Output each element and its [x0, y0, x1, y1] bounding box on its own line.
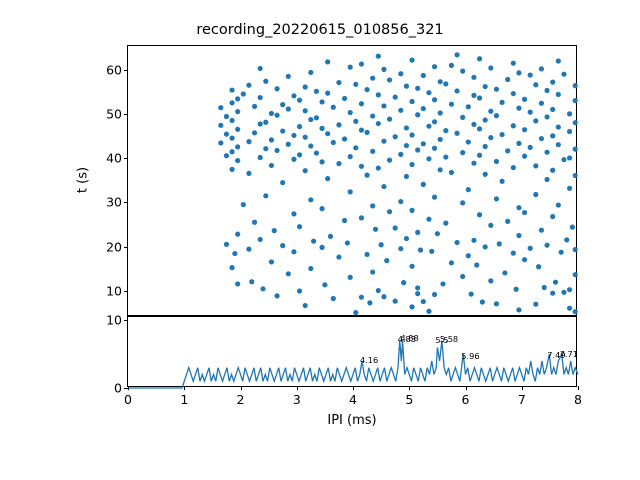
scatter-point: [297, 98, 302, 103]
scatter-point: [522, 257, 527, 262]
scatter-point: [409, 264, 414, 269]
scatter-point: [499, 179, 504, 184]
scatter-point: [286, 271, 291, 276]
scatter-point: [528, 145, 533, 150]
scatter-point: [319, 206, 324, 211]
scatter-point: [516, 70, 521, 75]
scatter-point: [308, 70, 313, 75]
scatter-y-tick: [124, 114, 128, 115]
scatter-point: [325, 176, 330, 181]
scatter-point: [303, 168, 308, 173]
scatter-point: [561, 157, 566, 162]
scatter-point: [505, 77, 510, 82]
scatter-point: [454, 88, 459, 93]
scatter-point: [533, 163, 538, 168]
scatter-point: [449, 260, 454, 265]
scatter-point: [460, 69, 465, 74]
scatter-point: [353, 145, 358, 150]
scatter-point: [567, 111, 572, 116]
scatter-point: [471, 161, 476, 166]
scatter-point: [359, 61, 364, 66]
scatter-point: [314, 89, 319, 94]
scatter-point: [364, 130, 369, 135]
scatter-point: [426, 309, 431, 314]
scatter-point: [432, 195, 437, 200]
scatter-point: [319, 245, 324, 250]
scatter-point: [567, 186, 572, 191]
scatter-point: [246, 139, 251, 144]
scatter-point: [550, 291, 555, 296]
scatter-point: [229, 149, 234, 154]
scatter-point: [488, 65, 493, 70]
scatter-point: [381, 294, 386, 299]
scatter-point: [550, 107, 555, 112]
scatter-point: [438, 79, 443, 84]
scatter-point: [421, 182, 426, 187]
scatter-point: [246, 83, 251, 88]
scatter-point: [336, 122, 341, 127]
histogram-axes: 010 012345678 4.164.834.885.55.585.967.4…: [127, 316, 577, 387]
scatter-point: [387, 209, 392, 214]
scatter-point: [286, 106, 291, 111]
scatter-point: [443, 81, 448, 86]
histogram-x-tick-label: 1: [180, 392, 188, 407]
scatter-point: [550, 214, 555, 219]
scatter-point: [528, 246, 533, 251]
scatter-point: [409, 58, 414, 63]
scatter-point: [308, 117, 313, 122]
scatter-point: [511, 123, 516, 128]
scatter-point: [466, 139, 471, 144]
scatter-point: [440, 281, 445, 286]
scatter-point: [229, 118, 234, 123]
scatter-point: [328, 234, 333, 239]
scatter-point: [415, 285, 420, 290]
scatter-point: [387, 158, 392, 163]
scatter-point: [483, 172, 488, 177]
scatter-point: [353, 82, 358, 87]
histogram-x-tick-label: 5: [405, 392, 413, 407]
scatter-point: [393, 299, 398, 304]
scatter-point: [567, 306, 572, 311]
scatter-point: [297, 288, 302, 293]
scatter-point: [556, 124, 561, 129]
scatter-point: [314, 150, 319, 155]
scatter-point: [477, 153, 482, 158]
scatter-point: [342, 218, 347, 223]
scatter-point: [393, 95, 398, 100]
scatter-y-tick: [124, 158, 128, 159]
scatter-point: [550, 80, 555, 85]
scatter-point: [229, 87, 234, 92]
scatter-point: [494, 159, 499, 164]
matplotlib-figure: recording_20220615_010856_321 1020304050…: [0, 0, 640, 480]
scatter-point: [297, 224, 302, 229]
scatter-point: [232, 251, 237, 256]
scatter-point: [514, 287, 519, 292]
scatter-point: [449, 63, 454, 68]
scatter-point: [477, 126, 482, 131]
scatter-point: [370, 269, 375, 274]
scatter-point: [516, 205, 521, 210]
scatter-point: [438, 167, 443, 172]
scatter-point: [443, 154, 448, 159]
scatter-point: [376, 165, 381, 170]
scatter-point: [224, 242, 229, 247]
scatter-point: [573, 247, 578, 252]
scatter-point: [421, 299, 426, 304]
scatter-point: [432, 146, 437, 151]
scatter-point: [539, 228, 544, 233]
scatter-point: [342, 96, 347, 101]
scatter-point: [353, 119, 358, 124]
scatter-point: [477, 56, 482, 61]
scatter-point: [393, 134, 398, 139]
scatter-point: [573, 309, 578, 314]
scatter-point: [435, 231, 440, 236]
scatter-point: [570, 225, 575, 230]
scatter-point: [460, 274, 465, 279]
scatter-point: [539, 66, 544, 71]
histogram-x-tick: [578, 386, 579, 390]
scatter-point: [404, 236, 409, 241]
scatter-point: [544, 177, 549, 182]
scatter-point: [336, 80, 341, 85]
scatter-point: [229, 136, 234, 141]
scatter-point: [252, 220, 257, 225]
scatter-point: [280, 243, 285, 248]
histogram-x-tick-label: 3: [293, 392, 301, 407]
scatter-point: [477, 95, 482, 100]
scatter-point: [471, 75, 476, 80]
scatter-point: [280, 128, 285, 133]
scatter-point: [432, 97, 437, 102]
histogram-x-tick-label: 2: [237, 392, 245, 407]
scatter-y-tick-label: 50: [106, 107, 122, 122]
scatter-point: [303, 303, 308, 308]
scatter-point: [314, 115, 319, 120]
histogram-peak-label: 7.71: [560, 349, 578, 359]
scatter-point: [272, 228, 277, 233]
scatter-point: [319, 99, 324, 104]
histogram-x-axis-label: IPI (ms): [327, 413, 376, 428]
scatter-point: [331, 296, 336, 301]
scatter-point: [348, 154, 353, 159]
scatter-point: [516, 106, 521, 111]
scatter-point: [460, 150, 465, 155]
scatter-point: [404, 125, 409, 130]
histogram-x-tick: [409, 386, 410, 390]
scatter-point: [556, 142, 561, 147]
scatter-point: [438, 110, 443, 115]
scatter-point: [398, 152, 403, 157]
scatter-point: [483, 244, 488, 249]
histogram-peak-label: 5.96: [461, 351, 479, 361]
scatter-point: [474, 262, 479, 267]
scatter-point: [401, 280, 406, 285]
scatter-point: [274, 148, 279, 153]
scatter-point: [409, 99, 414, 104]
scatter-point: [364, 87, 369, 92]
scatter-point: [533, 302, 538, 307]
scatter-point: [426, 217, 431, 222]
scatter-y-tick: [124, 247, 128, 248]
scatter-point: [415, 112, 420, 117]
scatter-point: [561, 72, 566, 77]
scatter-point: [502, 270, 507, 275]
scatter-point: [235, 281, 240, 286]
scatter-point: [286, 74, 291, 79]
scatter-point: [438, 137, 443, 142]
scatter-point: [353, 310, 358, 315]
histogram-x-tick-label: 0: [124, 392, 132, 407]
histogram-peak-label: 5.58: [440, 334, 458, 344]
histogram-x-tick: [297, 386, 298, 390]
scatter-y-tick-label: 30: [106, 195, 122, 210]
scatter-point: [373, 227, 378, 232]
scatter-point: [533, 192, 538, 197]
scatter-point: [421, 106, 426, 111]
scatter-point: [426, 90, 431, 95]
scatter-point: [550, 133, 555, 138]
scatter-point: [567, 155, 572, 160]
scatter-point: [308, 197, 313, 202]
scatter-point: [269, 259, 274, 264]
scatter-point: [528, 110, 533, 115]
scatter-point: [522, 154, 527, 159]
scatter-point: [359, 215, 364, 220]
scatter-point: [573, 272, 578, 277]
scatter-point: [297, 124, 302, 129]
scatter-point: [469, 291, 474, 296]
scatter-y-axis-label: t (s): [76, 167, 91, 193]
scatter-point: [499, 132, 504, 137]
scatter-point: [398, 71, 403, 76]
scatter-point: [303, 84, 308, 89]
scatter-point: [342, 136, 347, 141]
scatter-point: [359, 164, 364, 169]
histogram-x-tick-label: 8: [574, 392, 582, 407]
scatter-point: [415, 291, 420, 296]
scatter-point: [421, 73, 426, 78]
scatter-point: [398, 246, 403, 251]
scatter-point: [274, 86, 279, 91]
scatter-point: [398, 108, 403, 113]
scatter-point: [544, 88, 549, 93]
scatter-point: [269, 137, 274, 142]
histogram-y-tick-label: 10: [106, 313, 122, 328]
scatter-point: [573, 83, 578, 88]
scatter-point: [466, 104, 471, 109]
scatter-point: [542, 285, 547, 290]
scatter-point: [291, 93, 296, 98]
scatter-point: [224, 153, 229, 158]
scatter-point: [359, 295, 364, 300]
scatter-point: [409, 132, 414, 137]
scatter-y-tick: [124, 202, 128, 203]
scatter-point: [364, 173, 369, 178]
scatter-point: [511, 61, 516, 66]
scatter-point: [252, 104, 257, 109]
histogram-peak-label: 4.88: [401, 333, 419, 343]
scatter-point: [398, 199, 403, 204]
scatter-point: [291, 249, 296, 254]
scatter-point: [260, 286, 265, 291]
scatter-point: [559, 250, 564, 255]
scatter-point: [348, 110, 353, 115]
scatter-point: [488, 109, 493, 114]
scatter-point: [449, 170, 454, 175]
scatter-point: [249, 279, 254, 284]
scatter-point: [404, 174, 409, 179]
scatter-point: [384, 258, 389, 263]
scatter-point: [488, 135, 493, 140]
scatter-point: [544, 243, 549, 248]
scatter-point: [573, 98, 578, 103]
scatter-point: [297, 152, 302, 157]
scatter-point: [387, 77, 392, 82]
scatter-point: [488, 223, 493, 228]
histogram-x-tick-label: 7: [518, 392, 526, 407]
scatter-point: [522, 127, 527, 132]
scatter-point: [426, 124, 431, 129]
histogram-trace: [128, 341, 578, 388]
scatter-point: [494, 196, 499, 201]
scatter-point: [477, 212, 482, 217]
scatter-point: [415, 86, 420, 91]
scatter-point: [494, 301, 499, 306]
scatter-y-tick-label: 40: [106, 151, 122, 166]
scatter-point: [319, 126, 324, 131]
scatter-point: [511, 91, 516, 96]
scatter-point: [258, 155, 263, 160]
histogram-y-tick: [124, 320, 128, 321]
histogram-x-tick-label: 4: [349, 392, 357, 407]
scatter-point: [550, 168, 555, 173]
scatter-point: [229, 265, 234, 270]
scatter-point: [418, 247, 423, 252]
scatter-point: [348, 65, 353, 70]
scatter-point: [322, 282, 327, 287]
scatter-point: [505, 219, 510, 224]
scatter-point: [331, 140, 336, 145]
histogram-peak-label: 4.16: [360, 355, 378, 365]
scatter-point: [460, 115, 465, 120]
scatter-point: [564, 237, 569, 242]
scatter-point: [325, 131, 330, 136]
scatter-point: [415, 230, 420, 235]
scatter-point: [483, 144, 488, 149]
scatter-point: [567, 287, 572, 292]
scatter-point: [573, 147, 578, 152]
scatter-point: [556, 92, 561, 97]
scatter-point: [224, 114, 229, 119]
scatter-point: [258, 95, 263, 100]
scatter-point: [528, 72, 533, 77]
scatter-point: [367, 300, 372, 305]
scatter-point: [533, 82, 538, 87]
scatter-point: [516, 141, 521, 146]
scatter-point: [539, 136, 544, 141]
scatter-point: [404, 143, 409, 148]
scatter-y-tick-label: 10: [106, 283, 122, 298]
scatter-point: [269, 111, 274, 116]
scatter-point: [573, 120, 578, 125]
scatter-point: [280, 180, 285, 185]
scatter-point: [409, 304, 414, 309]
scatter-point: [370, 149, 375, 154]
scatter-point: [522, 97, 527, 102]
scatter-point: [370, 76, 375, 81]
scatter-point: [381, 139, 386, 144]
scatter-point: [291, 133, 296, 138]
scatter-point: [567, 129, 572, 134]
scatter-point: [454, 240, 459, 245]
scatter-point: [376, 288, 381, 293]
scatter-point: [370, 203, 375, 208]
scatter-point: [494, 87, 499, 92]
histogram-x-tick: [522, 386, 523, 390]
scatter-point: [218, 105, 223, 110]
scatter-point: [311, 239, 316, 244]
histogram-x-tick: [128, 386, 129, 390]
scatter-point: [235, 158, 240, 163]
scatter-point: [511, 251, 516, 256]
scatter-point: [235, 232, 240, 237]
scatter-point: [556, 58, 561, 63]
scatter-point: [379, 242, 384, 247]
histogram-x-tick: [353, 386, 354, 390]
scatter-point: [381, 184, 386, 189]
scatter-point: [218, 123, 223, 128]
scatter-point: [376, 54, 381, 59]
scatter-point: [336, 254, 341, 259]
scatter-point: [432, 292, 437, 297]
scatter-point: [263, 193, 268, 198]
scatter-point: [429, 249, 434, 254]
histogram-trace-layer: [128, 317, 578, 388]
scatter-point: [291, 211, 296, 216]
scatter-point: [556, 202, 561, 207]
scatter-point: [224, 132, 229, 137]
scatter-point: [393, 225, 398, 230]
scatter-point: [381, 103, 386, 108]
scatter-point: [443, 128, 448, 133]
scatter-point: [522, 210, 527, 215]
scatter-point: [235, 96, 240, 101]
scatter-y-tick: [124, 70, 128, 71]
scatter-point: [370, 113, 375, 118]
scatter-point: [364, 252, 369, 257]
scatter-point: [308, 266, 313, 271]
scatter-point: [291, 157, 296, 162]
scatter-point: [471, 122, 476, 127]
scatter-point: [544, 150, 549, 155]
scatter-point: [432, 119, 437, 124]
scatter-point: [235, 109, 240, 114]
scatter-point: [449, 102, 454, 107]
scatter-point: [325, 91, 330, 96]
scatter-point: [218, 140, 223, 145]
scatter-point: [471, 238, 476, 243]
scatter-point: [359, 101, 364, 106]
scatter-axes: 102030405060: [127, 45, 577, 316]
scatter-point: [460, 200, 465, 205]
scatter-point: [308, 143, 313, 148]
scatter-point: [426, 156, 431, 161]
scatter-point: [404, 84, 409, 89]
scatter-point: [348, 275, 353, 280]
